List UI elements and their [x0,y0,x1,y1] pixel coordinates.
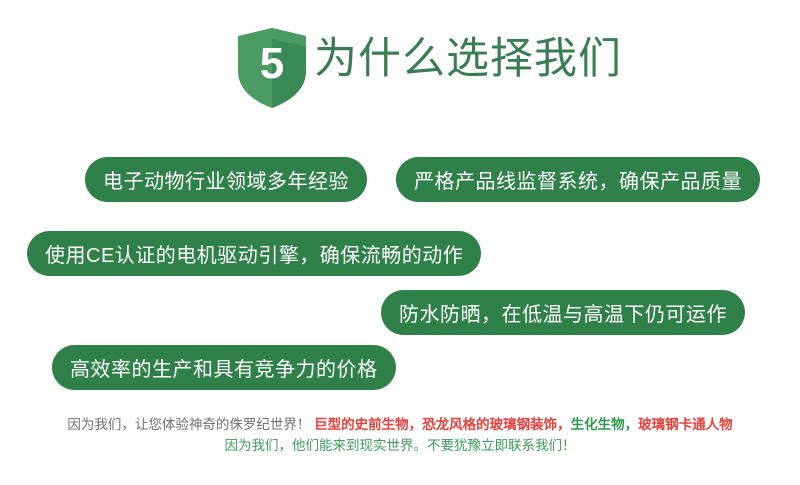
footer-line1-part4: 玻璃钢卡通人物 [638,417,733,432]
promo-page: 5 为什么选择我们 电子动物行业领域多年经验 严格产品线监督系统，确保产品质量 … [0,0,800,485]
shield-badge: 5 [237,27,307,109]
feature-bubble-quality[interactable]: 严格产品线监督系统，确保产品质量 [396,157,760,202]
footer-line1-part1: 因为我们，让您体验神奇的侏罗纪世界！ [67,417,314,432]
footer-text: 因为我们，让您体验神奇的侏罗纪世界！ 巨型的史前生物，恐龙风格的玻璃钢装饰，生化… [0,414,800,456]
page-header: 5 为什么选择我们 [0,0,800,120]
footer-line-1: 因为我们，让您体验神奇的侏罗纪世界！ 巨型的史前生物，恐龙风格的玻璃钢装饰，生化… [0,414,800,435]
page-title: 为什么选择我们 [314,36,622,83]
feature-bubble-ce-motor[interactable]: 使用CE认证的电机驱动引擎，确保流畅的动作 [27,231,481,276]
feature-bubble-price[interactable]: 高效率的生产和具有竞争力的价格 [52,345,396,390]
footer-line-2: 因为我们，他们能来到现实世界。不要犹豫立即联系我们！ [0,435,800,456]
feature-bubble-weatherproof[interactable]: 防水防晒，在低温与高温下仍可运作 [381,290,745,335]
footer-line1-part2: 巨型的史前生物，恐龙风格的玻璃钢装饰， [314,417,571,432]
badge-number: 5 [237,27,307,109]
footer-line1-part3: 生化生物， [571,417,639,432]
feature-bubble-experience[interactable]: 电子动物行业领域多年经验 [85,157,367,202]
